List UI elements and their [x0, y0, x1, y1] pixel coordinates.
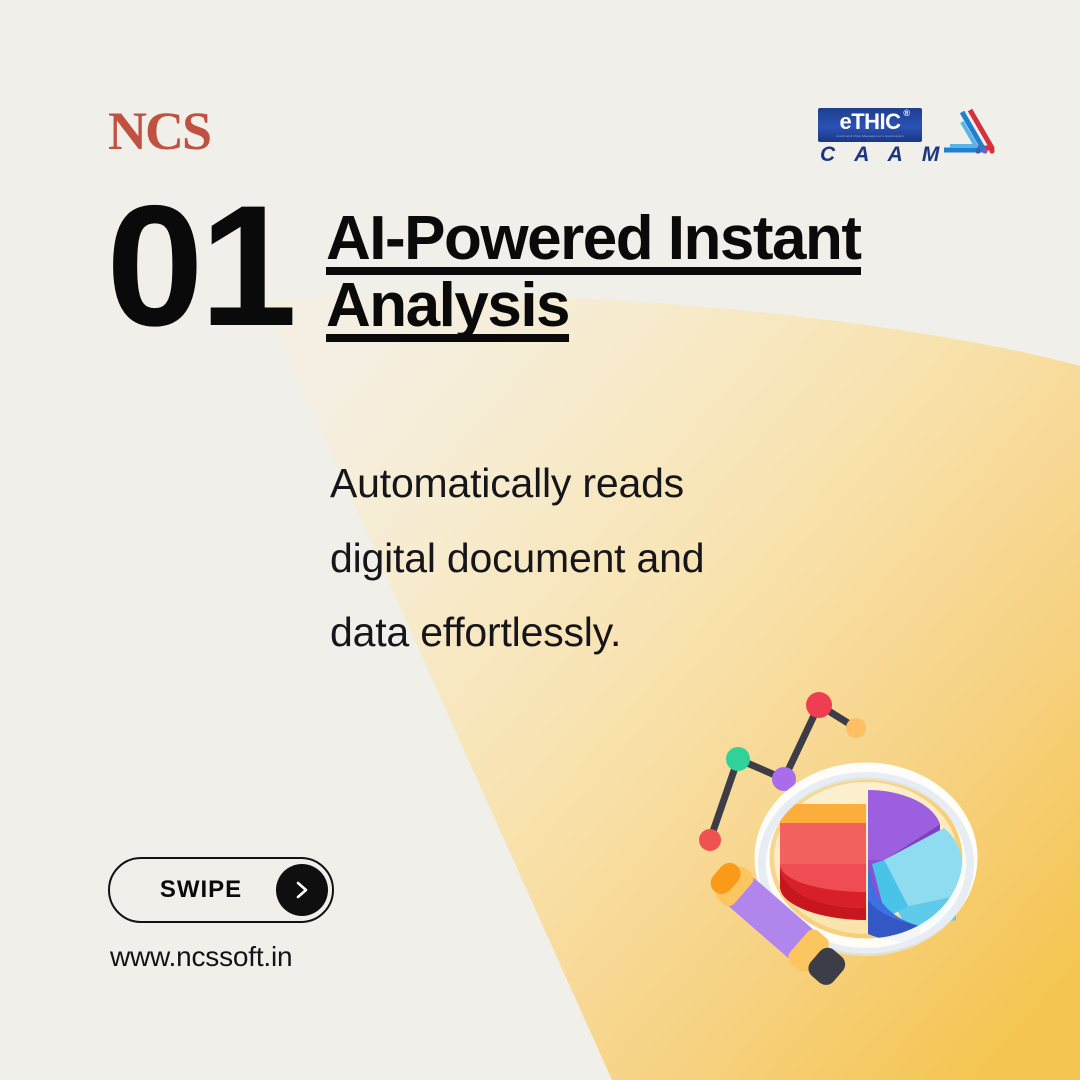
slide-canvas: NCS eTHIC® Audit and Risk Management Aut… — [0, 0, 1080, 1080]
caam-triangle-icon — [936, 106, 998, 161]
body-line-1: Automatically reads — [330, 446, 890, 521]
ethic-caam-logo: eTHIC® Audit and Risk Management Automat… — [818, 108, 1003, 168]
ethic-badge: eTHIC® Audit and Risk Management Automat… — [818, 108, 922, 142]
headline-line-1: AI-Powered Instant — [326, 206, 861, 273]
ethic-word-label: eTHIC — [839, 109, 900, 134]
caam-text: C A A M — [820, 144, 946, 165]
illustration-magnifier-chart — [668, 668, 1008, 1008]
page-title: AI-Powered Instant Analysis — [326, 206, 986, 340]
ncs-logo: NCS — [108, 104, 210, 158]
swipe-button[interactable]: SWIPE — [108, 857, 334, 923]
body-copy: Automatically reads digital document and… — [330, 446, 890, 670]
headline-line-2: Analysis — [326, 273, 569, 340]
body-line-3: data effortlessly. — [330, 595, 890, 670]
ethic-micro-text: Audit and Risk Management Automation — [836, 135, 904, 138]
slide-number: 01 — [106, 196, 293, 337]
swipe-button-label: SWIPE — [110, 876, 276, 904]
registered-mark-icon: ® — [903, 109, 909, 118]
body-line-2: digital document and — [330, 521, 890, 596]
website-url[interactable]: www.ncssoft.in — [110, 941, 292, 973]
ncs-logo-text: NCS — [108, 101, 210, 161]
ethic-badge-text: eTHIC® — [839, 111, 900, 133]
pie-left-half — [780, 804, 866, 920]
chevron-right-icon[interactable] — [276, 864, 328, 916]
